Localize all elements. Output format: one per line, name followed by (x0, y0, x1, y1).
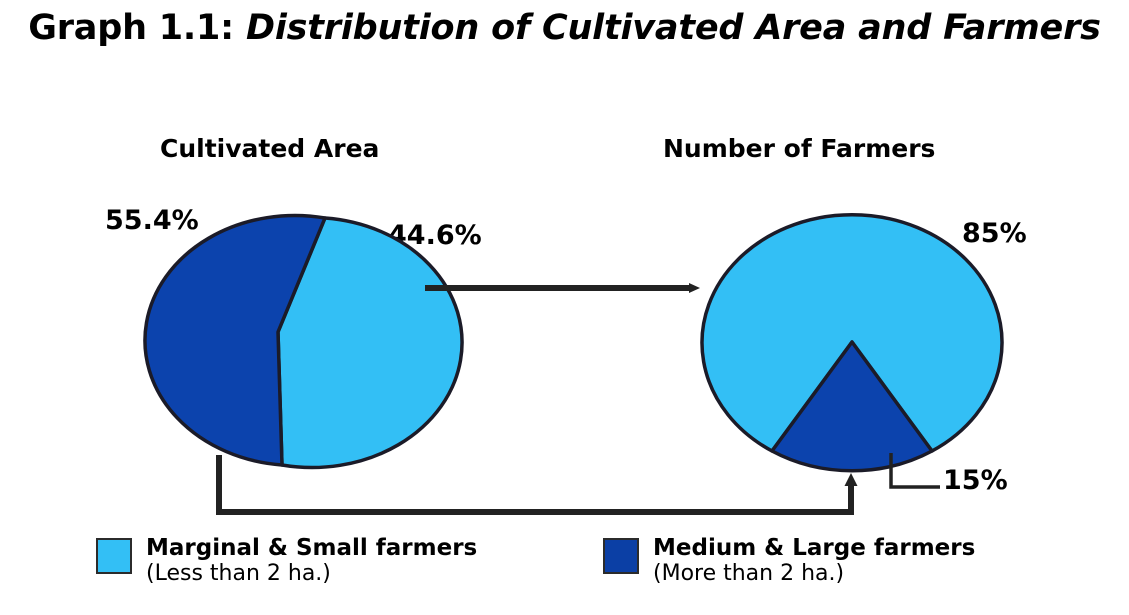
legend-text-block: Marginal & Small farmers (Less than 2 ha… (146, 536, 477, 586)
chart-canvas (0, 0, 1129, 615)
legend-item-marginal-small[interactable]: Marginal & Small farmers (Less than 2 ha… (96, 536, 477, 586)
legend-swatch-light-blue (96, 538, 132, 574)
legend-text-block: Medium & Large farmers (More than 2 ha.) (653, 536, 975, 586)
legend-item-medium-large[interactable]: Medium & Large farmers (More than 2 ha.) (603, 536, 975, 586)
legend-swatch-dark-blue (603, 538, 639, 574)
chart-figure: Graph 1.1: Distribution of Cultivated Ar… (0, 0, 1129, 615)
pie-cultivated-area (145, 215, 462, 467)
legend-label-sub: (Less than 2 ha.) (146, 562, 477, 587)
legend-label-title: Marginal & Small farmers (146, 536, 477, 562)
legend-label-sub: (More than 2 ha.) (653, 562, 975, 587)
chart-legend: Marginal & Small farmers (Less than 2 ha… (0, 534, 1129, 604)
legend-label-title: Medium & Large farmers (653, 536, 975, 562)
pie-number-of-farmers (702, 215, 1002, 471)
